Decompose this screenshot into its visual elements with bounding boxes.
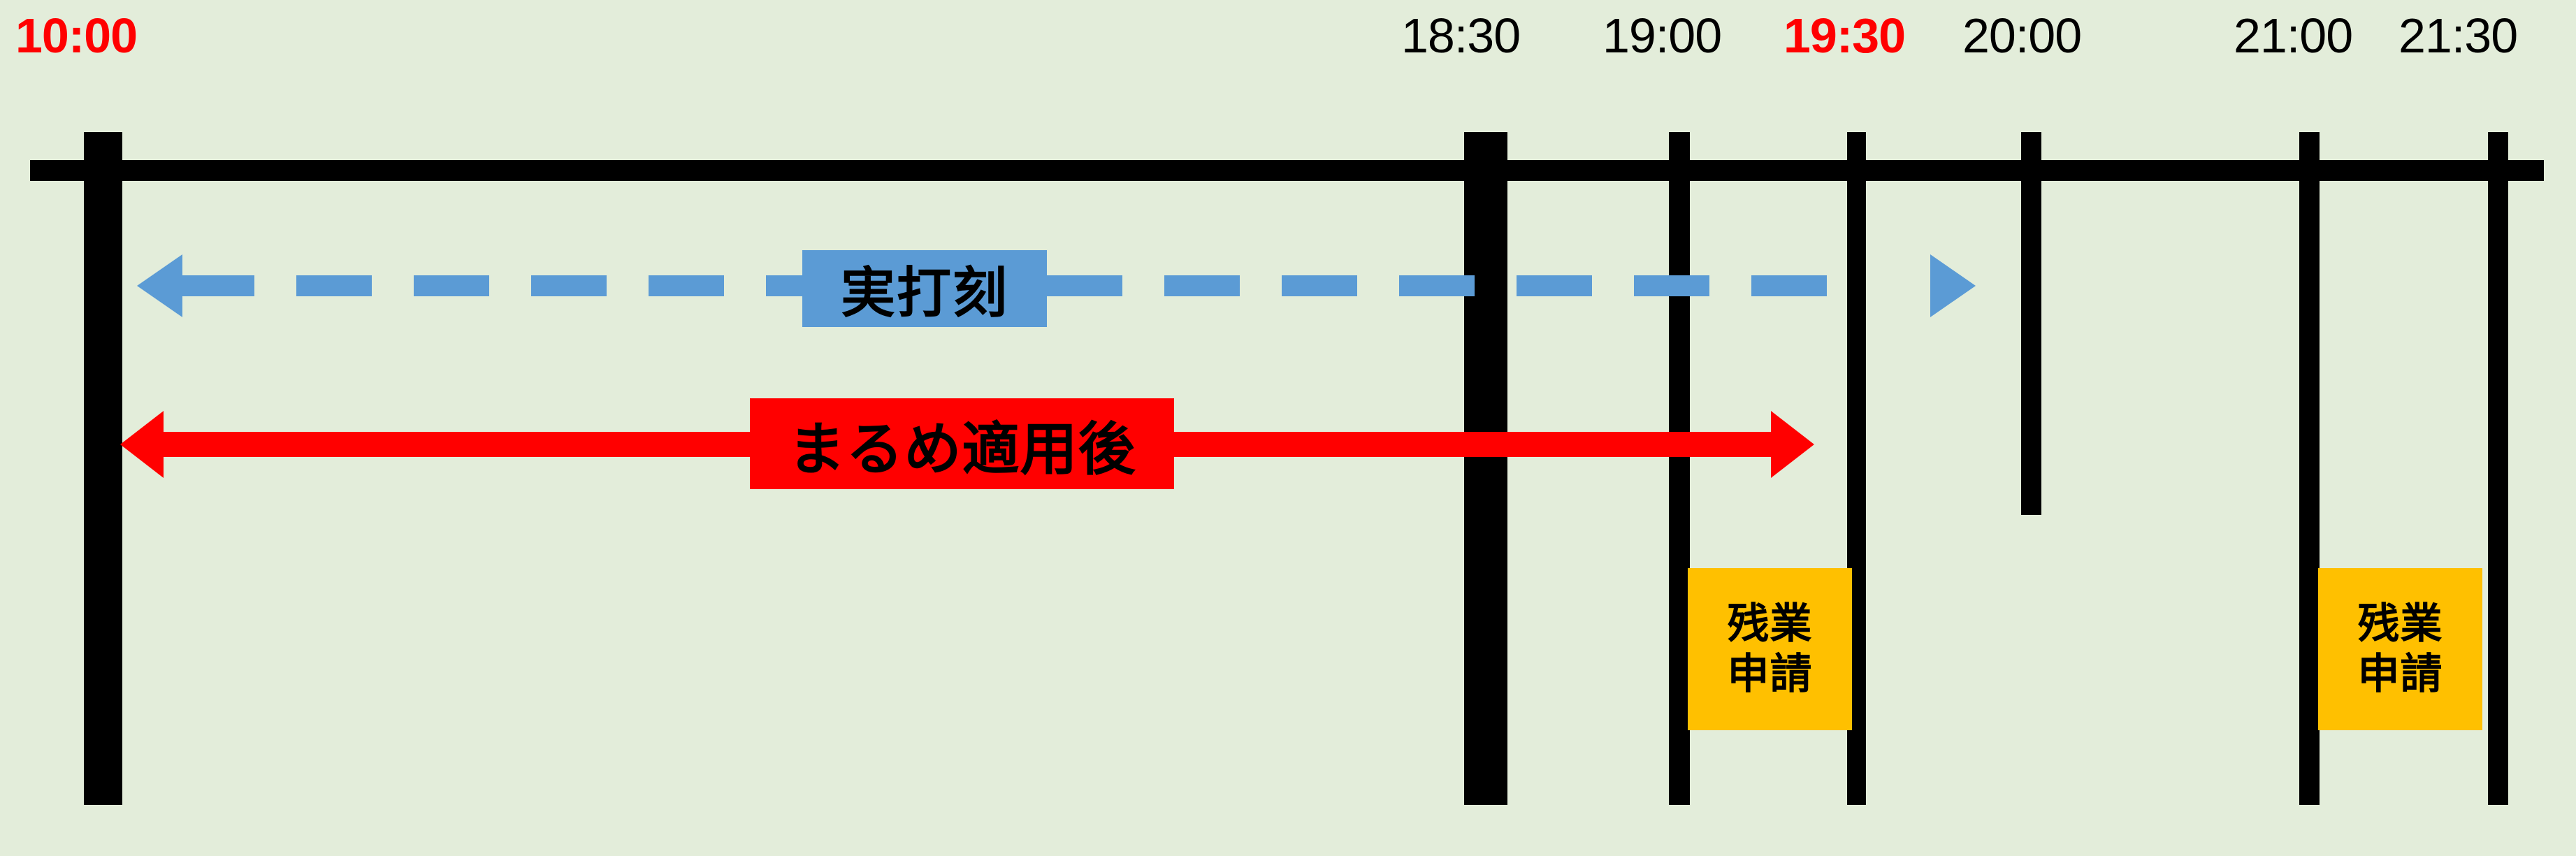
- actual-track-dash: [531, 275, 607, 296]
- overtime-request-line2: 申請: [2358, 649, 2443, 699]
- rounded-track-shaft: [1468, 432, 1772, 457]
- actual-track-dash: [649, 275, 724, 296]
- actual-track-dash: [1751, 275, 1827, 296]
- time-label-19-30: 19:30: [1783, 11, 1905, 60]
- time-label-20-00: 20:00: [1962, 11, 2081, 60]
- time-label-21-00: 21:00: [2234, 11, 2352, 60]
- timeline-axis: [30, 160, 2544, 181]
- time-label-18-30: 18:30: [1401, 11, 1520, 60]
- tick-line-19-00: [1669, 132, 1690, 805]
- overtime-request-box-1: 残業 申請: [1688, 568, 1852, 730]
- actual-track-dash: [1634, 275, 1709, 296]
- tick-line-21-30: [2488, 132, 2508, 805]
- tick-line-20-00: [2021, 132, 2041, 515]
- actual-track-dash: [1282, 275, 1357, 296]
- actual-stamp-label: 実打刻: [802, 250, 1047, 327]
- actual-track-right-arrowhead: [1930, 254, 1976, 317]
- tick-line-18-30: [1464, 132, 1507, 805]
- actual-track-dash: [179, 275, 254, 296]
- rounded-track-left-arrowhead: [120, 411, 164, 478]
- actual-track-dash: [1164, 275, 1240, 296]
- overtime-request-line1: 残業: [2358, 599, 2443, 649]
- timeline-diagram: 10:00 18:30 19:00 19:30 20:00 21:00 21:3…: [0, 0, 2576, 856]
- actual-track-dash: [1047, 275, 1122, 296]
- rounded-applied-label: まるめ適用後: [750, 398, 1174, 489]
- actual-track-dash: [414, 275, 489, 296]
- time-label-21-30: 21:30: [2398, 11, 2517, 60]
- overtime-request-line2: 申請: [1728, 649, 1813, 699]
- actual-track-dash: [296, 275, 372, 296]
- actual-track-dash: [1517, 275, 1592, 296]
- overtime-request-box-2: 残業 申請: [2318, 568, 2482, 730]
- actual-track-left-arrowhead: [137, 254, 182, 317]
- actual-track-dash: [1399, 275, 1475, 296]
- rounded-track-right-arrowhead: [1771, 411, 1814, 478]
- tick-line-10-00: [84, 132, 122, 805]
- overtime-request-line1: 残業: [1728, 599, 1813, 649]
- time-label-10-00: 10:00: [15, 11, 137, 60]
- time-label-19-00: 19:00: [1602, 11, 1721, 60]
- tick-line-21-00: [2299, 132, 2320, 805]
